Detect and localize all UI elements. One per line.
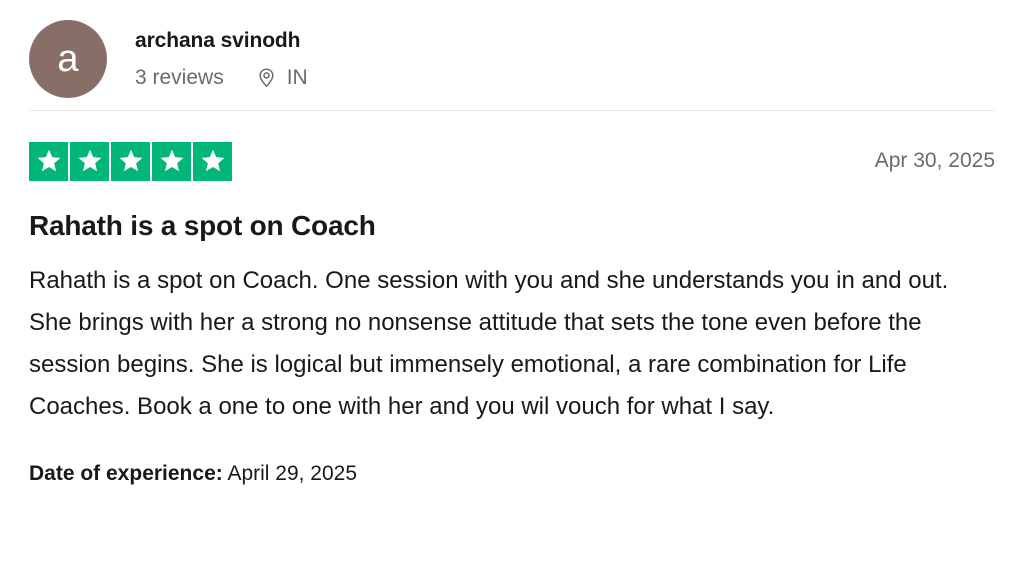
consumer-name[interactable]: archana svinodh	[135, 28, 308, 53]
consumer-details: 3 reviews IN	[135, 65, 308, 90]
star-rating	[29, 142, 232, 181]
header-divider	[29, 110, 995, 111]
review-body: Rahath is a spot on Coach. One session w…	[29, 260, 995, 428]
review-date: Apr 30, 2025	[875, 148, 995, 173]
review-title[interactable]: Rahath is a spot on Coach	[29, 209, 995, 243]
date-of-experience-label: Date of experience:	[29, 462, 223, 485]
star-icon	[152, 142, 191, 181]
avatar-initial: a	[57, 40, 78, 78]
date-of-experience: Date of experience: April 29, 2025	[29, 460, 995, 487]
consumer-location: IN	[256, 65, 308, 90]
location-pin-icon	[256, 67, 277, 88]
review-count: 3 reviews	[135, 65, 224, 90]
star-icon	[29, 142, 68, 181]
avatar[interactable]: a	[29, 20, 107, 98]
rating-row: Apr 30, 2025	[29, 141, 995, 181]
date-of-experience-value: April 29, 2025	[227, 462, 357, 485]
star-icon	[70, 142, 109, 181]
consumer-header: a archana svinodh 3 reviews IN	[29, 0, 995, 101]
star-icon	[193, 142, 232, 181]
star-icon	[111, 142, 150, 181]
consumer-info: archana svinodh 3 reviews IN	[135, 28, 308, 89]
review-card: a archana svinodh 3 reviews IN	[0, 0, 1024, 563]
location-code: IN	[287, 65, 308, 90]
